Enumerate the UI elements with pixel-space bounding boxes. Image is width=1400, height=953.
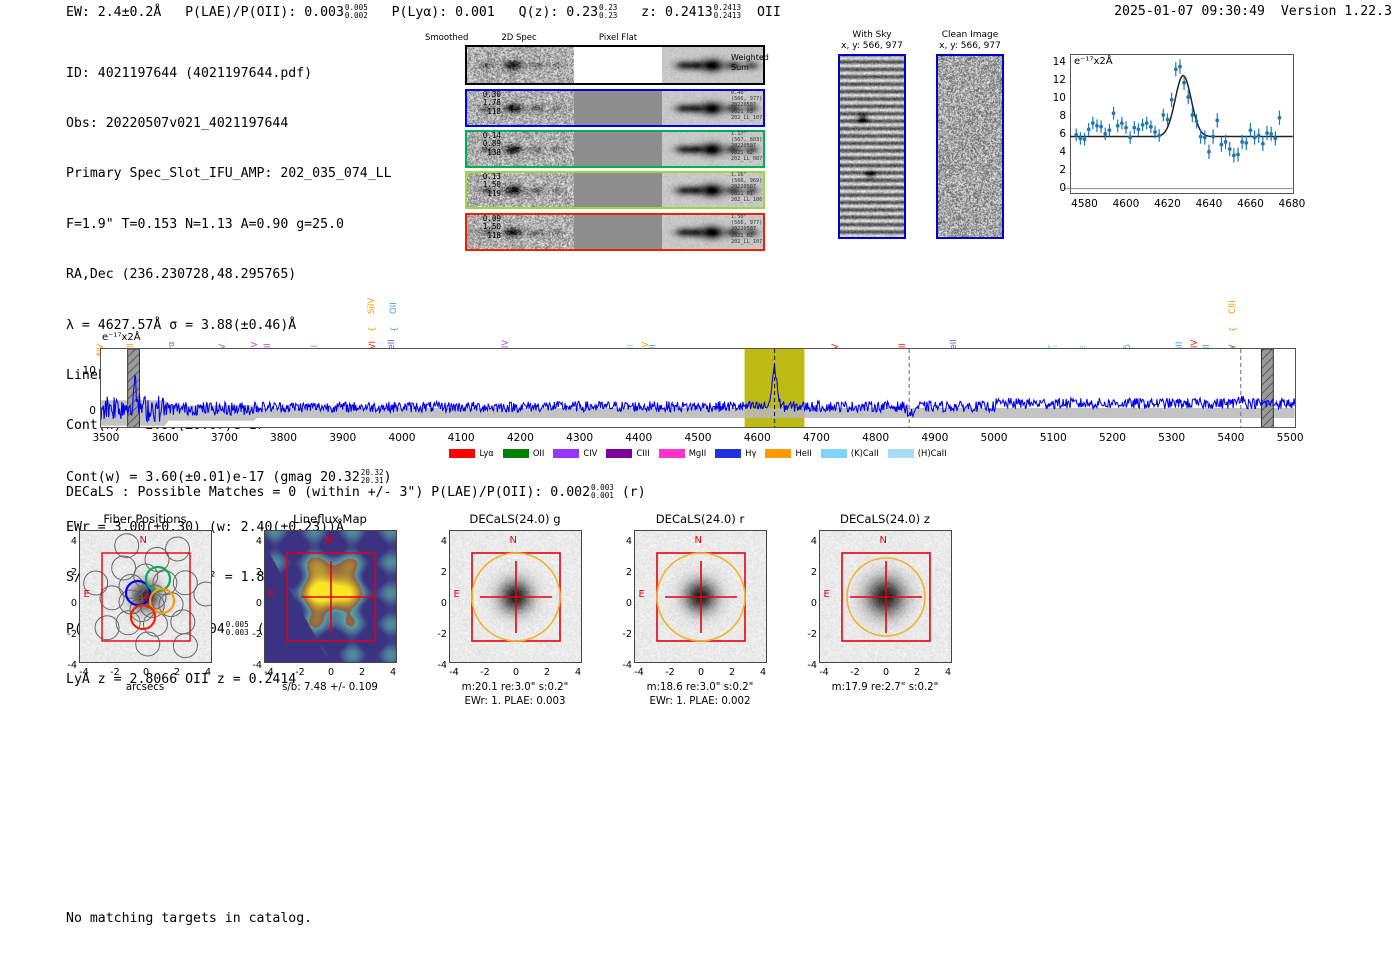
- panel-y-tick: 4: [811, 536, 817, 547]
- panel-x-tick: 0: [688, 667, 714, 678]
- spectrum-x-tick: 4700: [792, 432, 840, 444]
- panel-y-tick: -2: [252, 629, 262, 640]
- footer-line-1: No matching targets in catalog.: [66, 910, 312, 927]
- spec2d-pixel-flat: [574, 132, 663, 166]
- image-panel-canvas: NE: [79, 530, 212, 663]
- spectrum-line-bracket: {: [368, 327, 378, 332]
- legend-entry: HeII: [765, 448, 811, 458]
- report-page: EW: 2.4±0.2Å P(LAE)/P(OII): 0.0030.0050.…: [0, 0, 1400, 953]
- spectrum-x-tick: 3900: [319, 432, 367, 444]
- image-panel-canvas: NE: [819, 530, 952, 663]
- image-panel-2: DECaLS(24.0) gNE420-2-4-4-2024m:20.1 re:…: [425, 512, 605, 663]
- spec2d-pixel-flat: [574, 91, 663, 125]
- decals-match-header: DECaLS : Possible Matches = 0 (within +/…: [66, 484, 646, 500]
- east-label: E: [84, 589, 90, 600]
- col-title-smoothed: Smoothed: [425, 33, 468, 43]
- panel-y-tick: 4: [71, 536, 77, 547]
- legend-entry: Hγ: [715, 448, 756, 458]
- header-qz-label: Q(z): 0.23: [519, 5, 598, 20]
- spectrum-line-label: SiIV: [367, 298, 377, 314]
- version-label: Version 1.22.3: [1281, 4, 1392, 19]
- fit-y-tick: 6: [1042, 128, 1066, 140]
- panel-x-tick: 0: [873, 667, 899, 678]
- fit-y-tick: 0: [1042, 182, 1066, 194]
- panel-y-axis: 420-2-4: [425, 530, 449, 665]
- spectrum-x-tick: 5200: [1088, 432, 1136, 444]
- fit-y-tick: 12: [1042, 74, 1066, 86]
- panel-y-axis: 420-2-4: [240, 530, 264, 665]
- panel-caption-1: m:17.9 re:2.7" s:0.2": [795, 682, 975, 695]
- spectrum-x-tick: 4500: [674, 432, 722, 444]
- header-z-type: OII: [757, 5, 781, 20]
- fit-x-tick: 4620: [1147, 198, 1187, 210]
- spectrum-x-tick: 4000: [378, 432, 426, 444]
- panel-x-tick: -4: [811, 667, 837, 678]
- spec2d-row-metrics: 0.301.78118: [467, 91, 501, 116]
- panel-y-tick: 0: [256, 598, 262, 609]
- fit-x-tick: 4600: [1106, 198, 1146, 210]
- legend-label: Lyα: [479, 448, 493, 458]
- panel-x-tick: -2: [842, 667, 868, 678]
- fit-plot-units: e⁻¹⁷x2Å: [1074, 56, 1113, 67]
- spec2d-row-metrics: 0.091.50118: [467, 215, 501, 240]
- panel-x-tick: 2: [164, 667, 190, 678]
- panel-x-tick: -2: [287, 667, 313, 678]
- spectrum-x-tick: 4200: [496, 432, 544, 444]
- panel-x-tick: 4: [195, 667, 221, 678]
- legend-swatch: [765, 449, 791, 458]
- east-label: E: [639, 589, 645, 600]
- north-label: N: [695, 535, 702, 546]
- col-title-2dspec: 2D Spec: [465, 33, 573, 43]
- spectrum-x-tick: 3700: [200, 432, 248, 444]
- fit-x-tick: 4640: [1189, 198, 1229, 210]
- fit-y-tick: 4: [1042, 146, 1066, 158]
- legend-swatch: [659, 449, 685, 458]
- legend-entry: OII: [503, 448, 545, 458]
- spectrum-x-tick: 5300: [1148, 432, 1196, 444]
- cutout-clean-image: Clean Imagex, y: 566, 977: [930, 30, 1010, 239]
- fit-x-tick: 4680: [1272, 198, 1312, 210]
- info-obs: Obs: 20220507v021_4021197644: [66, 116, 392, 133]
- fit-y-tick: 10: [1042, 92, 1066, 104]
- image-panel-title: Fiber Positions: [55, 512, 235, 530]
- legend-swatch: [503, 449, 529, 458]
- image-panel-title: Lineflux Map: [240, 512, 420, 530]
- legend-label: HeII: [795, 448, 811, 458]
- fit-x-tick: 4580: [1065, 198, 1105, 210]
- panel-x-tick: 0: [133, 667, 159, 678]
- spectrum-x-tick: 3600: [141, 432, 189, 444]
- legend-label: MgII: [689, 448, 706, 458]
- image-panel-title: DECaLS(24.0) g: [425, 512, 605, 530]
- panel-y-tick: -2: [67, 629, 77, 640]
- legend-swatch: [449, 449, 475, 458]
- spectrum-x-tick: 4400: [615, 432, 663, 444]
- spectrum-x-tick: 5000: [970, 432, 1018, 444]
- panel-y-tick: 0: [811, 598, 817, 609]
- panel-x-tick: -4: [71, 667, 97, 678]
- legend-entry: CIII: [606, 448, 649, 458]
- timestamp: 2025-01-07 09:30:49: [1114, 4, 1265, 19]
- spectrum-y-tick: 0: [74, 405, 96, 417]
- panel-x-tick: 2: [904, 667, 930, 678]
- spec2d-row-metrics: 0.140.89138: [467, 132, 501, 157]
- spec2d-row-id: 1.16"(566, 969)20220507v021_01202_LL_106: [731, 172, 791, 203]
- spec2d-row: [465, 213, 765, 251]
- spectrum-x-tick: 5100: [1029, 432, 1077, 444]
- panel-y-tick: 0: [71, 598, 77, 609]
- panel-y-tick: 2: [811, 567, 817, 578]
- full-spectrum-plot: NV{SiII{Lyα{NV{CIV{SiII{CII{OVI{SiIV{OII…: [100, 282, 1296, 462]
- panel-x-tick: 4: [380, 667, 406, 678]
- cutout-title: Clean Image: [930, 30, 1010, 41]
- header-z-bounds: 0.24130.2413: [714, 4, 741, 20]
- panel-caption-2: EWr: 1. PLAE: 0.003: [425, 696, 605, 709]
- legend-entry: MgII: [659, 448, 706, 458]
- spec2d-row: [465, 171, 765, 209]
- cutout-with-sky: With Skyx, y: 566, 977: [832, 30, 912, 239]
- spectrum-line-label: CIII: [1228, 300, 1238, 314]
- cutout-coords: x, y: 566, 977: [930, 41, 1010, 52]
- spec2d-row: [465, 130, 765, 168]
- panel-x-tick: 0: [503, 667, 529, 678]
- panel-y-tick: 4: [626, 536, 632, 547]
- panel-x-tick: 2: [719, 667, 745, 678]
- spectrum-legend: LyαOIICIVCIIIMgIIHγHeII(K)CaII(H)CaII: [100, 448, 1296, 458]
- legend-label: OII: [533, 448, 545, 458]
- panel-caption-2: EWr: 1. PLAE: 0.002: [610, 696, 790, 709]
- north-label: N: [510, 535, 517, 546]
- panel-x-tick: -2: [657, 667, 683, 678]
- panel-x-tick: -4: [626, 667, 652, 678]
- spectrum-line-bracket: {: [1229, 327, 1239, 332]
- legend-swatch: [821, 449, 847, 458]
- spectrum-x-tick: 4100: [437, 432, 485, 444]
- east-label: E: [269, 589, 275, 600]
- north-label: N: [325, 535, 332, 546]
- cutout-panel-grid: Fiber PositionsNE420-2-4-4-2024arcsecsLi…: [55, 512, 995, 727]
- spectrum-y-tick: 10: [74, 365, 96, 377]
- spectrum-x-tick: 4800: [852, 432, 900, 444]
- panel-y-tick: 2: [441, 567, 447, 578]
- image-panel-1: Lineflux MapNE420-2-4-4-2024s/b: 7.48 +/…: [240, 512, 420, 663]
- legend-entry: (H)CaII: [888, 448, 947, 458]
- spectrum-units: e⁻¹⁷x2Å: [102, 332, 141, 343]
- spec2d-pixel-flat: [574, 215, 663, 249]
- legend-entry: CIV: [553, 448, 597, 458]
- spectrum-x-tick: 4300: [556, 432, 604, 444]
- spectrum-axes: [100, 348, 1296, 428]
- panel-y-axis: 420-2-4: [610, 530, 634, 665]
- image-panel-canvas: NE: [634, 530, 767, 663]
- panel-x-tick: 2: [534, 667, 560, 678]
- header-qz-bounds: 0.230.23: [599, 4, 617, 20]
- fit-y-tick: 8: [1042, 110, 1066, 122]
- panel-y-tick: -2: [437, 629, 447, 640]
- header-plae-label: P(LAE)/P(OII): 0.003: [185, 5, 344, 20]
- image-panel-3: DECaLS(24.0) rNE420-2-4-4-2024m:18.6 re:…: [610, 512, 790, 663]
- legend-entry: (K)CaII: [821, 448, 879, 458]
- panel-x-tick: -4: [441, 667, 467, 678]
- panel-y-tick: -2: [622, 629, 632, 640]
- panel-x-tick: 0: [318, 667, 344, 678]
- panel-y-tick: 0: [441, 598, 447, 609]
- cutout-coords: x, y: 566, 977: [832, 41, 912, 52]
- panel-x-tick: 2: [349, 667, 375, 678]
- panel-y-axis: 420-2-4: [795, 530, 819, 665]
- panel-caption-1: m:18.6 re:3.0" s:0.2": [610, 682, 790, 695]
- panel-x-tick: -2: [102, 667, 128, 678]
- info-slot: Primary Spec_Slot_IFU_AMP: 202_035_074_L…: [66, 166, 392, 183]
- north-label: N: [140, 535, 147, 546]
- spectrum-x-tick: 3800: [260, 432, 308, 444]
- info-id: ID: 4021197644 (4021197644.pdf): [66, 66, 392, 83]
- weighted-sum-label: WeightedSum: [731, 53, 769, 72]
- panel-caption-1: s/b: 7.48 +/- 0.109: [240, 682, 420, 695]
- spectrum-x-tick: 4900: [911, 432, 959, 444]
- decals-plae-bounds: 0.0030.001: [591, 484, 614, 500]
- panel-x-tick: 4: [935, 667, 961, 678]
- panel-y-tick: 2: [71, 567, 77, 578]
- image-panel-overlay: [820, 531, 952, 663]
- cutout-image: [936, 54, 1004, 239]
- north-label: N: [880, 535, 887, 546]
- panel-caption-1: m:20.1 re:3.0" s:0.2": [425, 682, 605, 695]
- panel-x-tick: 4: [750, 667, 776, 678]
- spec2d-pixel-flat: [574, 173, 663, 207]
- col-title-pixelflat: Pixel Flat: [573, 33, 663, 43]
- footer-notes: No matching targets in catalog. Row inte…: [66, 876, 312, 953]
- panel-x-tick: 4: [565, 667, 591, 678]
- panel-y-axis: 420-2-4: [55, 530, 79, 665]
- header-z-label: z: 0.2413: [641, 5, 712, 20]
- panel-y-tick: 2: [256, 567, 262, 578]
- spec2d-raw: [467, 47, 574, 83]
- spectrum-x-tick: 3500: [82, 432, 130, 444]
- panel-y-tick: 4: [441, 536, 447, 547]
- legend-entry: Lyα: [449, 448, 493, 458]
- spec2d-row-id: 0.40"(566, 977)20220507v021_03202_LL_107: [731, 90, 791, 121]
- legend-label: (K)CaII: [851, 448, 879, 458]
- image-panel-0: Fiber PositionsNE420-2-4-4-2024arcsecs: [55, 512, 235, 663]
- image-panel-overlay: [450, 531, 582, 663]
- info-fwhm: F=1.9" T=0.153 N=1.13 A=0.90 g=25.0: [66, 217, 392, 234]
- header-timestamp-version: 2025-01-07 09:30:49 Version 1.22.3: [1114, 4, 1392, 19]
- spectrum-x-tick: 5400: [1207, 432, 1255, 444]
- header-ew: EW: 2.4±0.2Å: [66, 5, 161, 20]
- image-panel-title: DECaLS(24.0) r: [610, 512, 790, 530]
- cutout-title: With Sky: [832, 30, 912, 41]
- image-panel-overlay: [80, 531, 212, 663]
- header-plae-bounds: 0.0050.002: [345, 4, 368, 20]
- spec2d-row-metrics: 0.131.50119: [467, 173, 501, 198]
- image-panel-canvas: NE: [449, 530, 582, 663]
- spec2d-row-id: 1.50"(566, 977)20220507v021_02202_LL_107: [731, 214, 791, 245]
- spec2d-row-id: 1.17"(567, 803)20220507v021_02202_LL_087: [731, 131, 791, 162]
- panel-x-tick: -2: [472, 667, 498, 678]
- panel-y-tick: 2: [626, 567, 632, 578]
- decals-header-text: DECaLS : Possible Matches = 0 (within +/…: [66, 485, 590, 500]
- spectrum-line-label: OII: [389, 302, 399, 314]
- image-panel-canvas: NE: [264, 530, 397, 663]
- spec2d-pixel-flat: [574, 47, 663, 83]
- header-plya: P(Lyα): 0.001: [392, 5, 495, 20]
- east-label: E: [824, 589, 830, 600]
- two-d-spectra-panel: 2D Spec Pixel Flat Smoothed WeightedSum0…: [425, 33, 805, 248]
- panel-y-tick: 4: [256, 536, 262, 547]
- legend-swatch: [553, 449, 579, 458]
- spec2d-row: [465, 89, 765, 127]
- legend-label: Hγ: [745, 448, 756, 458]
- fit-y-tick: 2: [1042, 164, 1066, 176]
- spectrum-x-tick: 4600: [733, 432, 781, 444]
- panel-x-label: arcsecs: [55, 682, 235, 695]
- spectrum-line-bracket: {: [390, 327, 400, 332]
- fit-y-tick: 14: [1042, 56, 1066, 68]
- decals-band: (r): [622, 485, 646, 500]
- cutout-image: [838, 54, 906, 239]
- legend-swatch: [715, 449, 741, 458]
- header-summary-line: EW: 2.4±0.2Å P(LAE)/P(OII): 0.0030.0050.…: [66, 4, 781, 20]
- image-panel-title: DECaLS(24.0) z: [795, 512, 975, 530]
- legend-label: CIII: [636, 448, 649, 458]
- spec2d-row: [465, 45, 765, 85]
- fit-x-tick: 4660: [1230, 198, 1270, 210]
- panel-y-tick: 0: [626, 598, 632, 609]
- image-panel-overlay: [265, 531, 397, 663]
- legend-swatch: [888, 449, 914, 458]
- spectrum-x-tick: 5500: [1266, 432, 1314, 444]
- spectrum-trace: [101, 349, 1296, 428]
- legend-label: (H)CaII: [918, 448, 947, 458]
- east-label: E: [454, 589, 460, 600]
- legend-label: CIV: [583, 448, 597, 458]
- panel-y-tick: -2: [807, 629, 817, 640]
- legend-swatch: [606, 449, 632, 458]
- image-panel-overlay: [635, 531, 767, 663]
- panel-x-tick: -4: [256, 667, 282, 678]
- image-panel-4: DECaLS(24.0) zNE420-2-4-4-2024m:17.9 re:…: [795, 512, 975, 663]
- emission-line-fit-plot: 02468101214458046004620464046604680e⁻¹⁷x…: [1036, 48, 1300, 226]
